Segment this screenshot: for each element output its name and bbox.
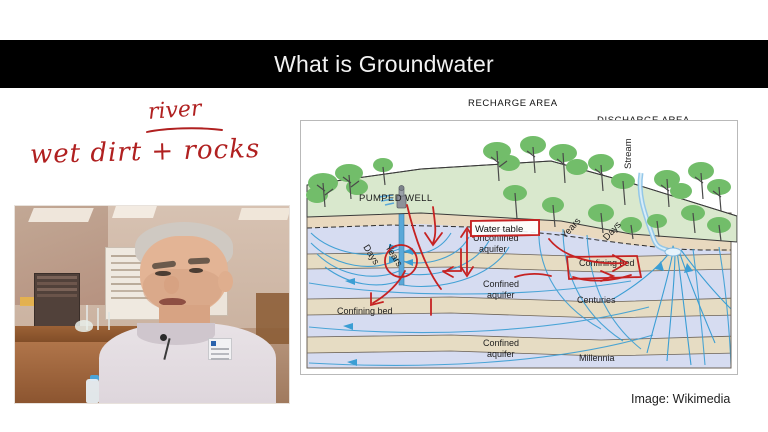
- ear: [218, 271, 233, 293]
- slide-title-bar: What is Groundwater: [0, 40, 768, 88]
- presenter-video[interactable]: [14, 205, 290, 404]
- glassware: [97, 308, 99, 330]
- label-confined-aquifer-1a: Confined: [483, 279, 519, 289]
- presenter: [103, 222, 273, 403]
- water-bottle: [86, 379, 99, 403]
- ceiling-light-icon: [238, 208, 290, 220]
- recharge-area-header: RECHARGE AREA: [468, 98, 558, 109]
- groundwater-cross-section-svg: PUMPED WELL Unconfined aquifer Confined …: [301, 121, 737, 374]
- label-water-table-boxed: Water table: [475, 224, 523, 235]
- flask-icon: [75, 320, 93, 332]
- collar: [137, 323, 215, 345]
- ceiling-light-icon: [112, 206, 157, 218]
- image-credit: Image: Wikimedia: [631, 392, 730, 406]
- ink-annotation-river: river: [147, 96, 202, 125]
- stream-outlet: [665, 248, 681, 256]
- label-confined-aquifer-2a: Confined: [483, 338, 519, 348]
- ceiling-light-icon: [29, 208, 95, 222]
- slide-canvas: What is Groundwater river wet dirt + roc…: [0, 0, 768, 432]
- page-title: What is Groundwater: [274, 51, 494, 78]
- ink-annotation-note: wet dirt + rocks: [30, 134, 261, 170]
- label-millennia: Millennia: [579, 353, 615, 363]
- label-stream: Stream: [623, 138, 634, 169]
- fume-hood: [34, 273, 80, 334]
- label-pumped-well: PUMPED WELL: [359, 193, 433, 204]
- label-unconfined-aquifer-2: aquifer: [479, 244, 507, 254]
- eyebrow: [187, 257, 209, 264]
- groundwater-diagram: PUMPED WELL Unconfined aquifer Confined …: [300, 120, 738, 375]
- label-centuries: Centuries: [577, 295, 616, 305]
- ink-underline-river: [146, 126, 224, 135]
- id-badge: [208, 338, 232, 360]
- label-confining-bed-lower: Confining bed: [337, 306, 393, 316]
- label-confined-aquifer-2b: aquifer: [487, 349, 515, 359]
- label-confined-aquifer-1b: aquifer: [487, 290, 515, 300]
